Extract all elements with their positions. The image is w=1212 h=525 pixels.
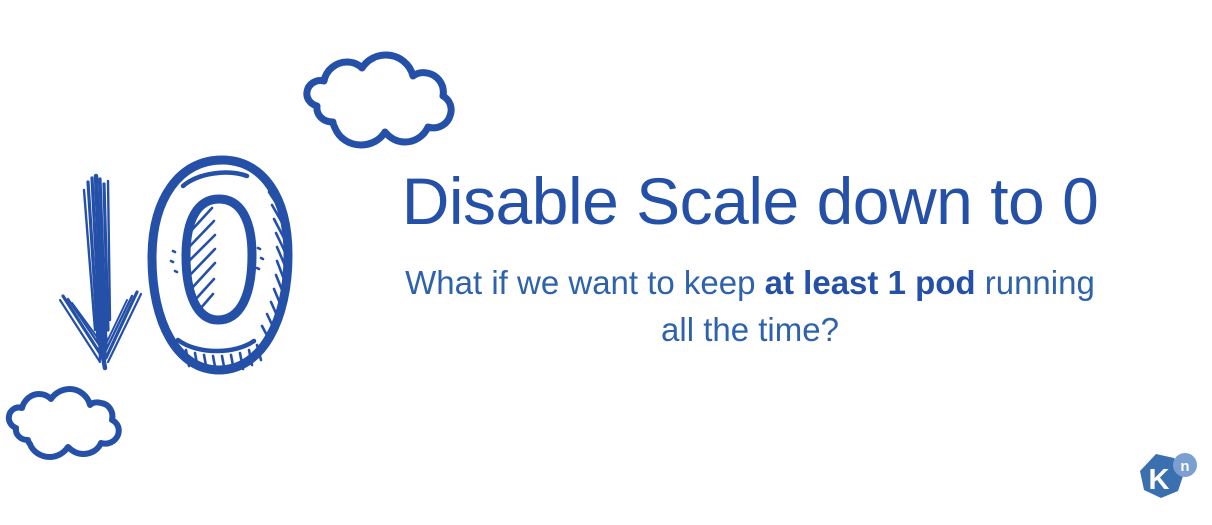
- slide-canvas: Disable Scale down to 0 What if we want …: [0, 0, 1212, 525]
- subtitle-text-after: running: [976, 264, 1095, 301]
- text-block: Disable Scale down to 0 What if we want …: [370, 168, 1130, 354]
- logo-letter-n: n: [1180, 458, 1189, 475]
- down-arrow-icon: [60, 176, 141, 368]
- subtitle-text-before: What if we want to keep: [405, 264, 765, 301]
- page-title: Disable Scale down to 0: [370, 168, 1130, 234]
- cloud-bottom-icon: [9, 389, 119, 457]
- subtitle-line-two: all the time?: [661, 311, 839, 348]
- page-subtitle: What if we want to keep at least 1 pod r…: [370, 234, 1130, 354]
- zero-digit-icon: [152, 160, 288, 372]
- logo-badge: K n: [1130, 448, 1202, 512]
- cloud-top-icon: [307, 55, 451, 145]
- subtitle-emphasis: at least 1 pod: [765, 264, 976, 301]
- logo-letter-k: K: [1149, 464, 1170, 496]
